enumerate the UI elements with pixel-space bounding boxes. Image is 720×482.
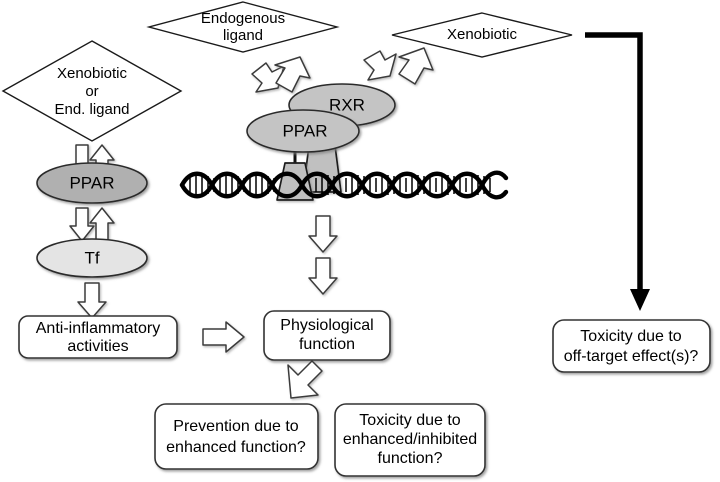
box-physiological-function-line-1: Physiological <box>280 317 373 334</box>
pathway-diagram: Endogenous ligand Xenobiotic or End. lig… <box>0 0 720 482</box>
connector-ppar-to-tf-down <box>70 208 94 241</box>
elbow-arrow-path <box>585 35 640 296</box>
connector-dna-to-physiological-down-1 <box>309 216 337 252</box>
ligand-binding-squiggle-right-b-icon <box>399 48 433 84</box>
oval-ppar-complex[interactable]: PPAR <box>247 110 359 152</box>
oval-tf-left-label: Tf <box>84 248 99 267</box>
box-prevention-enhanced-function-shape <box>155 404 318 469</box>
box-toxicity-off-target-effects[interactable]: Toxicity due to off-target effect(s)? <box>553 320 710 372</box>
box-physiological-function-line-2: function <box>299 336 355 353</box>
box-physiological-function[interactable]: Physiological function <box>264 311 390 360</box>
oval-tf-left[interactable]: Tf <box>37 239 147 277</box>
diamond-endogenous-ligand-line-2: ligand <box>223 27 263 44</box>
ligand-binding-squiggle-left-b-icon <box>275 57 310 92</box>
box-anti-inflammatory-line-1: Anti-inflammatory <box>36 320 160 337</box>
diamond-endogenous-ligand-line-1: Endogenous <box>201 10 285 27</box>
oval-rxr-complex-label: RXR <box>329 95 365 114</box>
connector-tf-to-anti-inflammatory-down <box>78 283 106 318</box>
oval-ppar-left-label: PPAR <box>69 173 114 192</box>
oval-ppar-left[interactable]: PPAR <box>37 163 147 203</box>
box-prevention-line-2: enhanced function? <box>166 439 306 456</box>
box-toxicity-enhanced-inhibited-function[interactable]: Toxicity due to enhanced/inhibited funct… <box>335 404 485 476</box>
elbow-arrow-head <box>630 289 650 311</box>
connector-anti-inflammatory-to-physiological-right <box>203 322 244 352</box>
box-toxicity-enh-line-1: Toxicity due to <box>359 412 460 429</box>
box-off-target-line-2: off-target effect(s)? <box>564 348 699 365</box>
diamond-xenobiotic-label: Xenobiotic <box>447 26 518 43</box>
connector-ppar-tf-bidirectional <box>70 208 114 241</box>
diamond-endogenous-ligand[interactable]: Endogenous ligand <box>149 2 337 52</box>
ligand-binding-squiggle-right-a-icon <box>364 51 396 80</box>
oval-ppar-complex-label: PPAR <box>282 121 327 140</box>
dna-double-helix <box>182 173 506 198</box>
squiggle-arrows-right-pair <box>364 48 433 84</box>
box-prevention-line-1: Prevention due to <box>173 418 299 435</box>
box-anti-inflammatory-line-2: activities <box>67 338 128 355</box>
diamond-xenobiotic-or-endogenous-ligand[interactable]: Xenobiotic or End. ligand <box>3 41 181 141</box>
connector-dna-to-physiological-down-2 <box>309 258 337 294</box>
box-toxicity-enh-line-3: function? <box>378 450 443 467</box>
diamond-xen-end-line-3: End. ligand <box>54 101 129 118</box>
diagram-canvas: Endogenous ligand Xenobiotic or End. lig… <box>0 0 720 482</box>
diamond-xen-end-line-1: Xenobiotic <box>57 65 128 82</box>
box-prevention-enhanced-function[interactable]: Prevention due to enhanced function? <box>155 404 318 469</box>
squiggle-arrows-left-pair <box>252 57 310 92</box>
connector-physiological-to-prevention-downleft <box>288 361 322 398</box>
box-anti-inflammatory-activities[interactable]: Anti-inflammatory activities <box>19 316 177 358</box>
box-off-target-line-1: Toxicity due to <box>580 328 681 345</box>
connector-xenobiotic-to-off-target-elbow <box>585 35 650 311</box>
diamond-xen-end-line-2: or <box>85 83 98 100</box>
box-toxicity-enh-line-2: enhanced/inhibited <box>343 431 477 448</box>
connector-tf-to-ppar-up <box>90 208 114 241</box>
